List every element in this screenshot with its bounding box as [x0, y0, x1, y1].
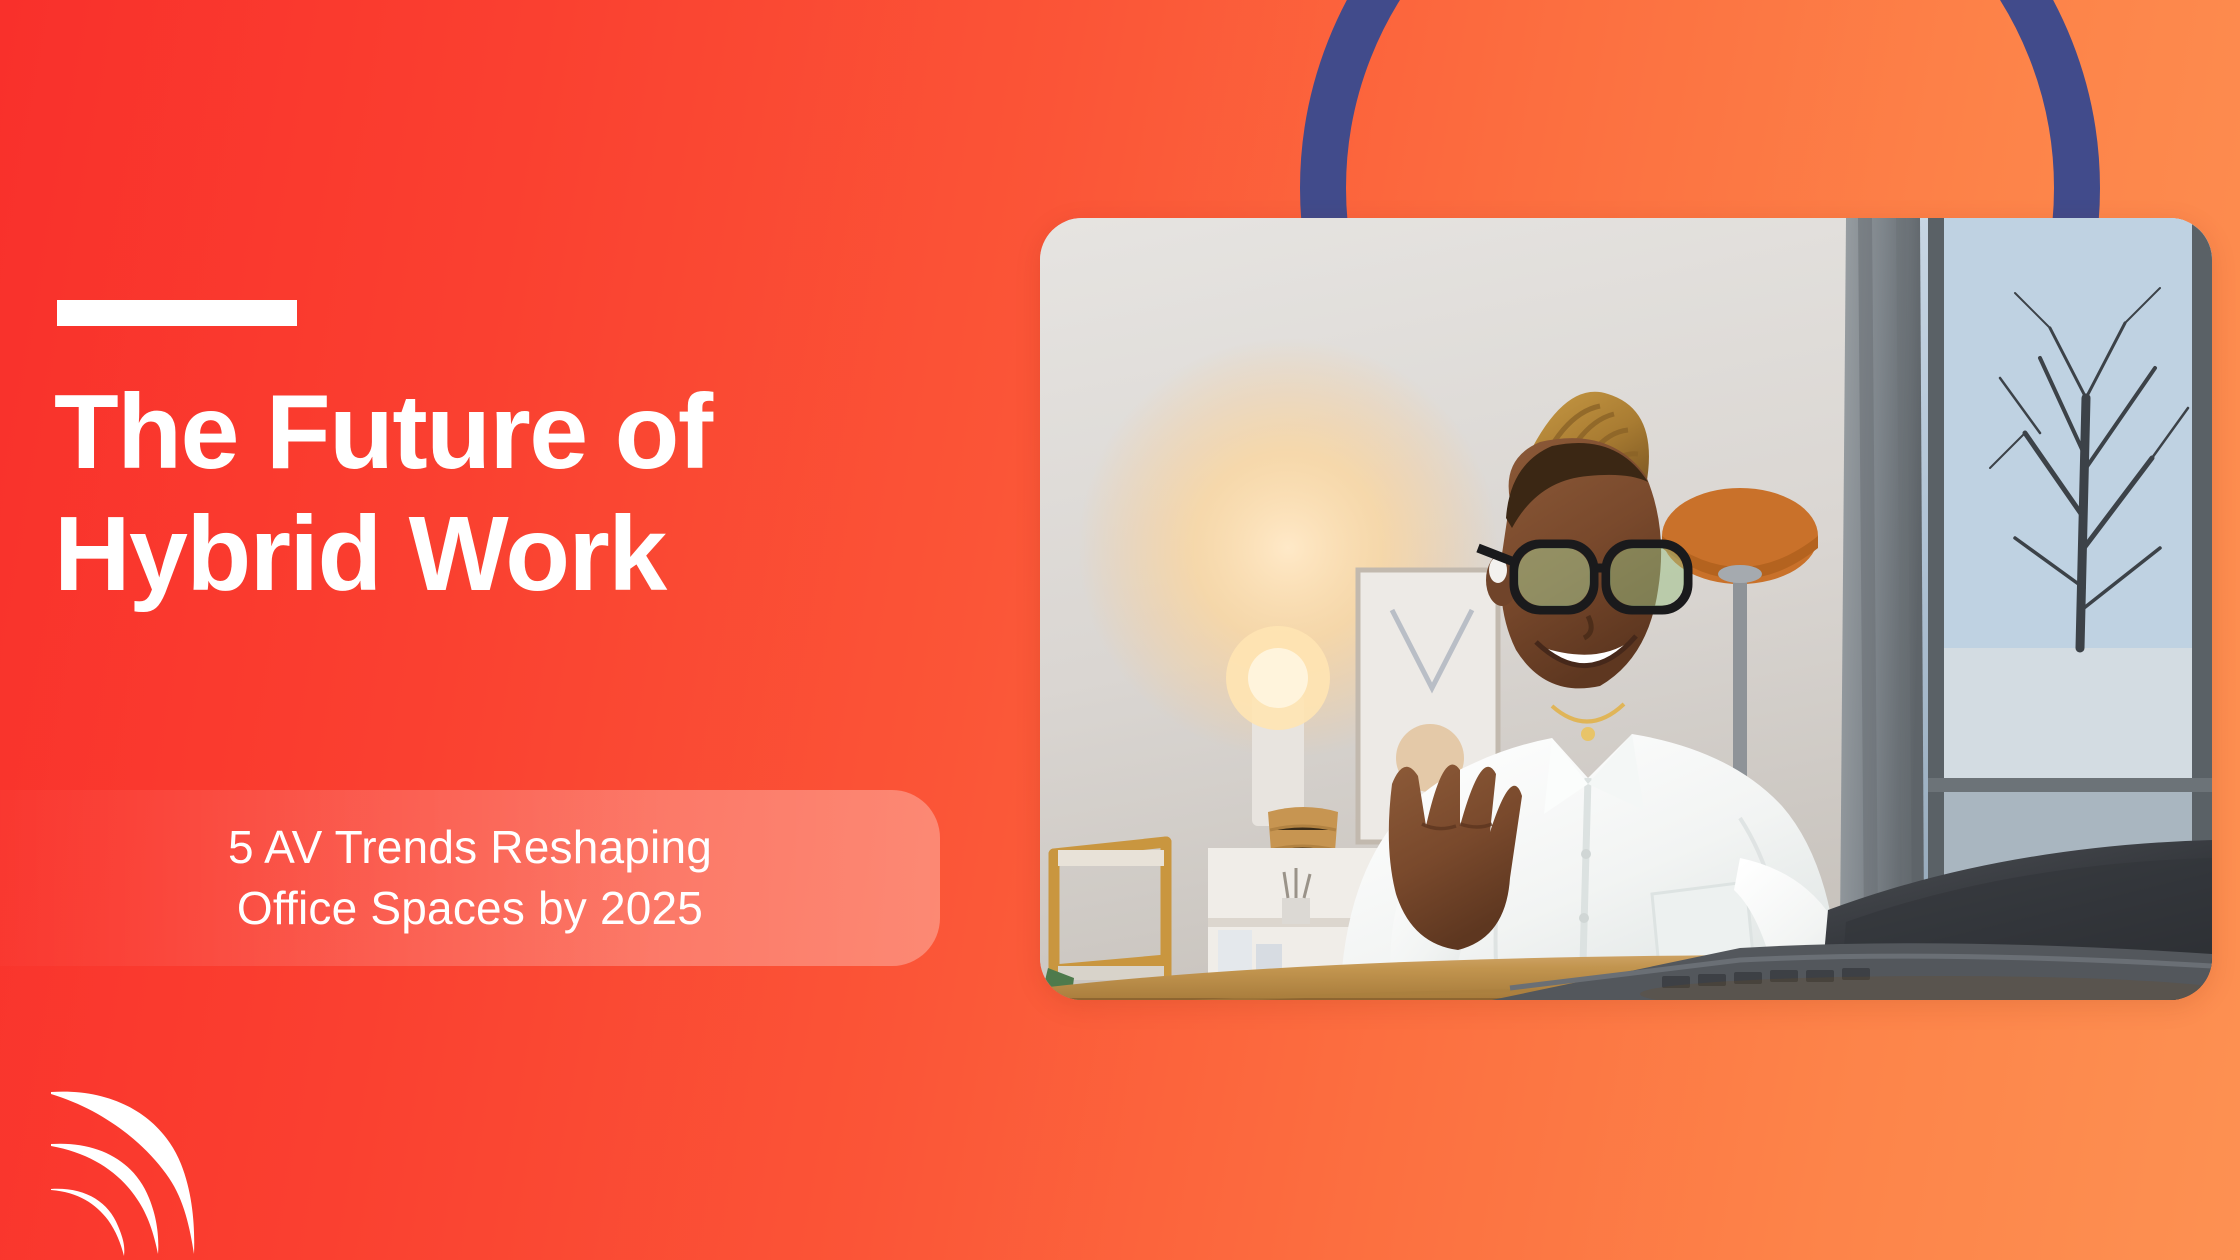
signal-waves-logo: [48, 1068, 208, 1260]
subtitle-text: 5 AV Trends Reshaping Office Spaces by 2…: [228, 817, 712, 938]
page-title: The Future of Hybrid Work: [54, 372, 974, 616]
subtitle-badge: 5 AV Trends Reshaping Office Spaces by 2…: [0, 790, 940, 966]
marketing-banner: The Future of Hybrid Work 5 AV Trends Re…: [0, 0, 2240, 1260]
hero-photo: [1040, 218, 2212, 1000]
logo-icon: [48, 1068, 208, 1260]
hero-photo-illustration: [1040, 218, 2212, 1000]
white-accent-bar: [57, 300, 297, 326]
left-content-column: The Future of Hybrid Work 5 AV Trends Re…: [0, 0, 1010, 1260]
